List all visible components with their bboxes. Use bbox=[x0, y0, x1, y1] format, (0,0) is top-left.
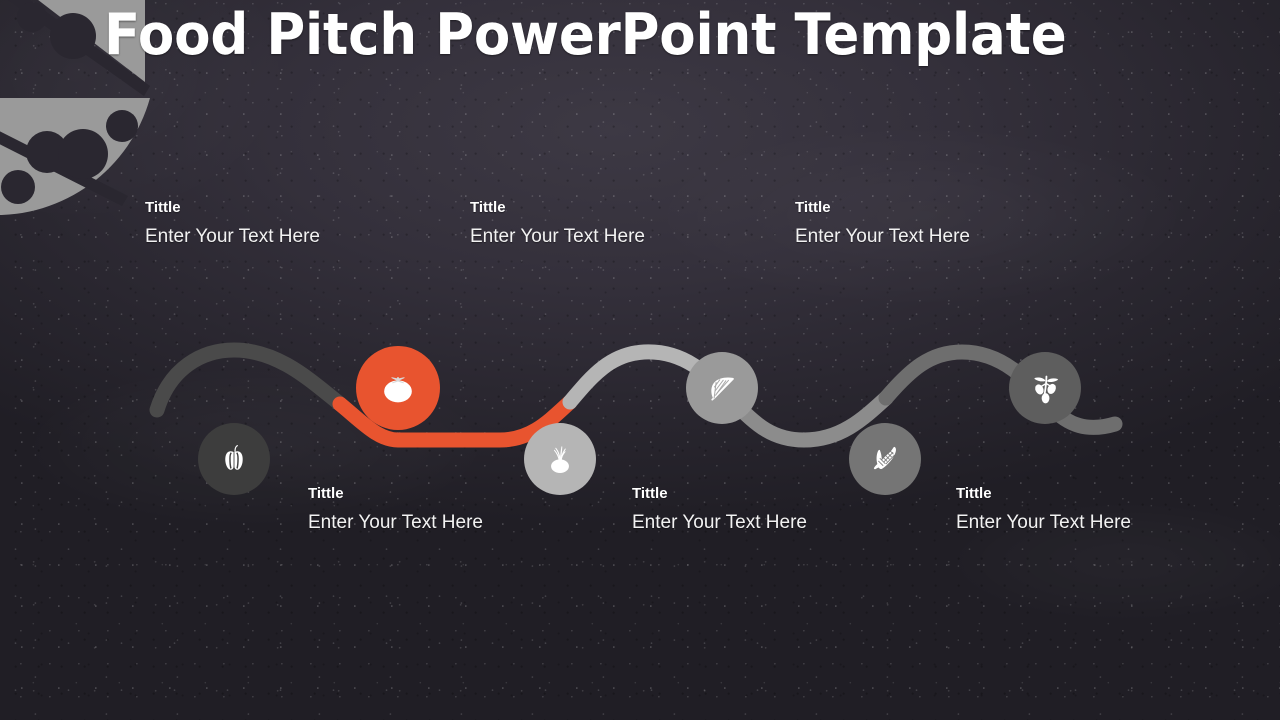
olive-branch-icon bbox=[1027, 370, 1063, 406]
label-top-2: Tittle Enter Your Text Here bbox=[470, 199, 645, 249]
label-top-1: Tittle Enter Your Text Here bbox=[145, 199, 320, 249]
label-title: Tittle bbox=[632, 485, 807, 503]
corn-icon bbox=[867, 441, 903, 477]
bell-pepper-icon bbox=[217, 442, 251, 476]
label-top-3: Tittle Enter Your Text Here bbox=[795, 199, 970, 249]
onion-icon bbox=[543, 442, 577, 476]
presentation-slide: Food Pitch PowerPoint Template bbox=[0, 0, 1280, 720]
node-onion[interactable] bbox=[524, 423, 596, 495]
wavy-timeline-path bbox=[140, 340, 1150, 450]
label-title: Tittle bbox=[956, 485, 1131, 503]
label-title: Tittle bbox=[795, 199, 970, 217]
label-body: Enter Your Text Here bbox=[795, 226, 970, 249]
label-title: Tittle bbox=[145, 199, 320, 217]
label-body: Enter Your Text Here bbox=[470, 226, 645, 249]
node-corn[interactable] bbox=[849, 423, 921, 495]
node-olive-branch[interactable] bbox=[1009, 352, 1081, 424]
label-body: Enter Your Text Here bbox=[956, 512, 1131, 535]
leaf-icon bbox=[704, 370, 740, 406]
page-title: Food Pitch PowerPoint Template bbox=[104, 2, 1067, 69]
label-bottom-2: Tittle Enter Your Text Here bbox=[632, 485, 807, 535]
label-body: Enter Your Text Here bbox=[145, 226, 320, 249]
node-tomato[interactable] bbox=[356, 346, 440, 430]
label-title: Tittle bbox=[470, 199, 645, 217]
label-body: Enter Your Text Here bbox=[632, 512, 807, 535]
label-bottom-1: Tittle Enter Your Text Here bbox=[308, 485, 483, 535]
tomato-icon bbox=[377, 367, 419, 409]
label-bottom-3: Tittle Enter Your Text Here bbox=[956, 485, 1131, 535]
node-leaf[interactable] bbox=[686, 352, 758, 424]
label-body: Enter Your Text Here bbox=[308, 512, 483, 535]
label-title: Tittle bbox=[308, 485, 483, 503]
node-bell-pepper[interactable] bbox=[198, 423, 270, 495]
